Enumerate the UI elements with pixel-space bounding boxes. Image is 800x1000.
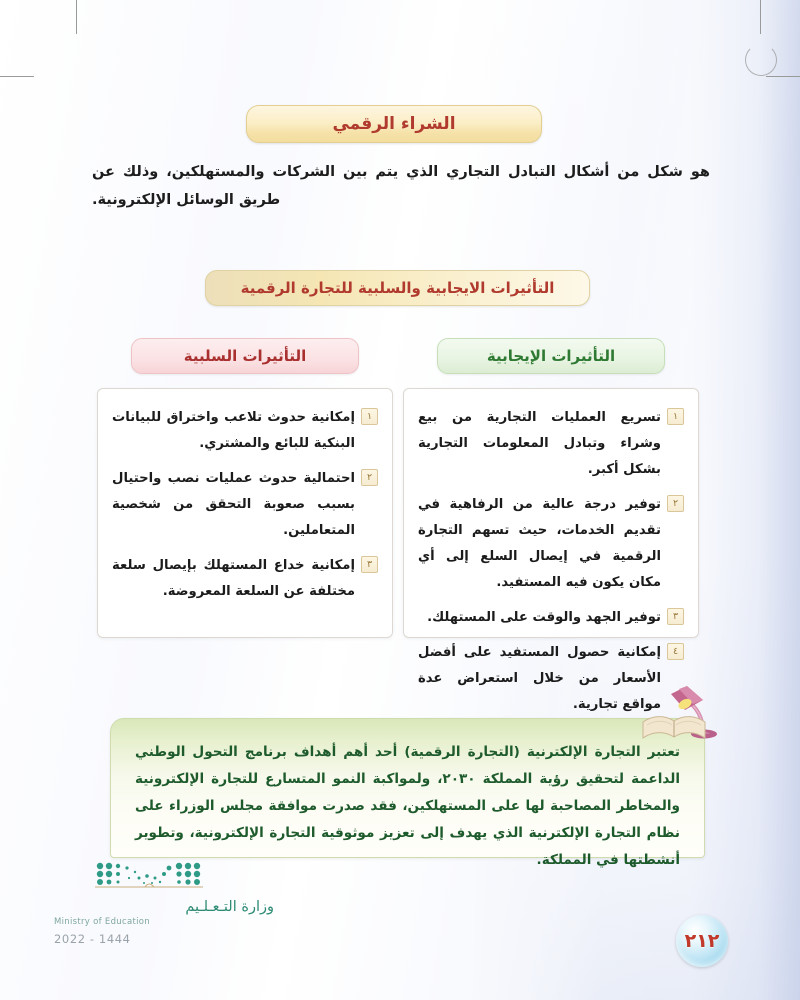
desk-lamp-icon	[641, 680, 751, 742]
ministry-name-english: Ministry of Education	[54, 917, 274, 928]
section-title-pill: التأثيرات الايجابية والسلبية للتجارة الر…	[205, 270, 590, 306]
item-text: إمكانية حدوث تلاعب واختراق للبيانات البن…	[112, 405, 355, 457]
item-number-badge: ٣	[361, 556, 378, 573]
ministry-year: 2022 - 1444	[54, 932, 274, 946]
negative-effects-panel: ١ إمكانية حدوث تلاعب واختراق للبيانات ال…	[97, 388, 393, 638]
item-text: إمكانية حصول المستفيد على أفضل الأسعار م…	[418, 640, 661, 718]
positive-effects-header: التأثيرات الإيجابية	[437, 338, 665, 374]
negative-effects-header: التأثيرات السلبية	[131, 338, 359, 374]
list-item: ٣ توفير الجهد والوقت على المستهلك.	[418, 605, 684, 631]
intro-paragraph: هو شكل من أشكال التبادل التجاري الذي يتم…	[92, 158, 710, 214]
item-number-badge: ٣	[667, 608, 684, 625]
page-title: الشراء الرقمي	[332, 114, 455, 134]
list-item: ٢ توفير درجة عالية من الرفاهية في تقديم …	[418, 492, 684, 596]
ministry-footer: وزارة التـعـلـيم Ministry of Education 2…	[54, 898, 274, 946]
ministry-logo-icon	[95, 862, 203, 892]
item-text: توفير درجة عالية من الرفاهية في تقديم ال…	[418, 492, 661, 596]
page-number: ٢١٢	[685, 930, 720, 952]
section-title: التأثيرات الايجابية والسلبية للتجارة الر…	[241, 279, 555, 297]
ministry-dot-pattern-icon	[95, 862, 203, 892]
positive-effects-header-label: التأثيرات الإيجابية	[487, 347, 615, 365]
list-item: ٢ احتمالية حدوث عمليات نصب واحتيال بسبب …	[112, 466, 378, 544]
lamp-and-book-decoration	[641, 680, 751, 742]
textbook-page: الشراء الرقمي هو شكل من أشكال التبادل ال…	[0, 0, 800, 1000]
page-number-badge: ٢١٢	[676, 915, 728, 967]
negative-effects-header-label: التأثيرات السلبية	[184, 347, 307, 365]
item-number-badge: ٢	[667, 495, 684, 512]
item-number-badge: ٢	[361, 469, 378, 486]
positive-effects-panel: ١ تسريع العمليات التجارية من بيع وشراء و…	[403, 388, 699, 638]
item-number-badge: ١	[361, 408, 378, 425]
item-number-badge: ١	[667, 408, 684, 425]
item-text: إمكانية خداع المستهلك بإيصال سلعة مختلفة…	[112, 553, 355, 605]
item-text: توفير الجهد والوقت على المستهلك.	[418, 605, 661, 631]
info-callout-box: تعتبر التجارة الإلكترنية (التجارة الرقمي…	[110, 718, 705, 858]
item-text: تسريع العمليات التجارية من بيع وشراء وتب…	[418, 405, 661, 483]
info-callout-text: تعتبر التجارة الإلكترنية (التجارة الرقمي…	[135, 739, 680, 874]
page-title-pill: الشراء الرقمي	[246, 105, 542, 143]
item-text: احتمالية حدوث عمليات نصب واحتيال بسبب صع…	[112, 466, 355, 544]
list-item: ١ تسريع العمليات التجارية من بيع وشراء و…	[418, 405, 684, 483]
ministry-name-arabic: وزارة التـعـلـيم	[54, 898, 274, 916]
list-item: ٣ إمكانية خداع المستهلك بإيصال سلعة مختل…	[112, 553, 378, 605]
item-number-badge: ٤	[667, 643, 684, 660]
page-content: الشراء الرقمي هو شكل من أشكال التبادل ال…	[0, 0, 800, 1000]
list-item: ١ إمكانية حدوث تلاعب واختراق للبيانات ال…	[112, 405, 378, 457]
